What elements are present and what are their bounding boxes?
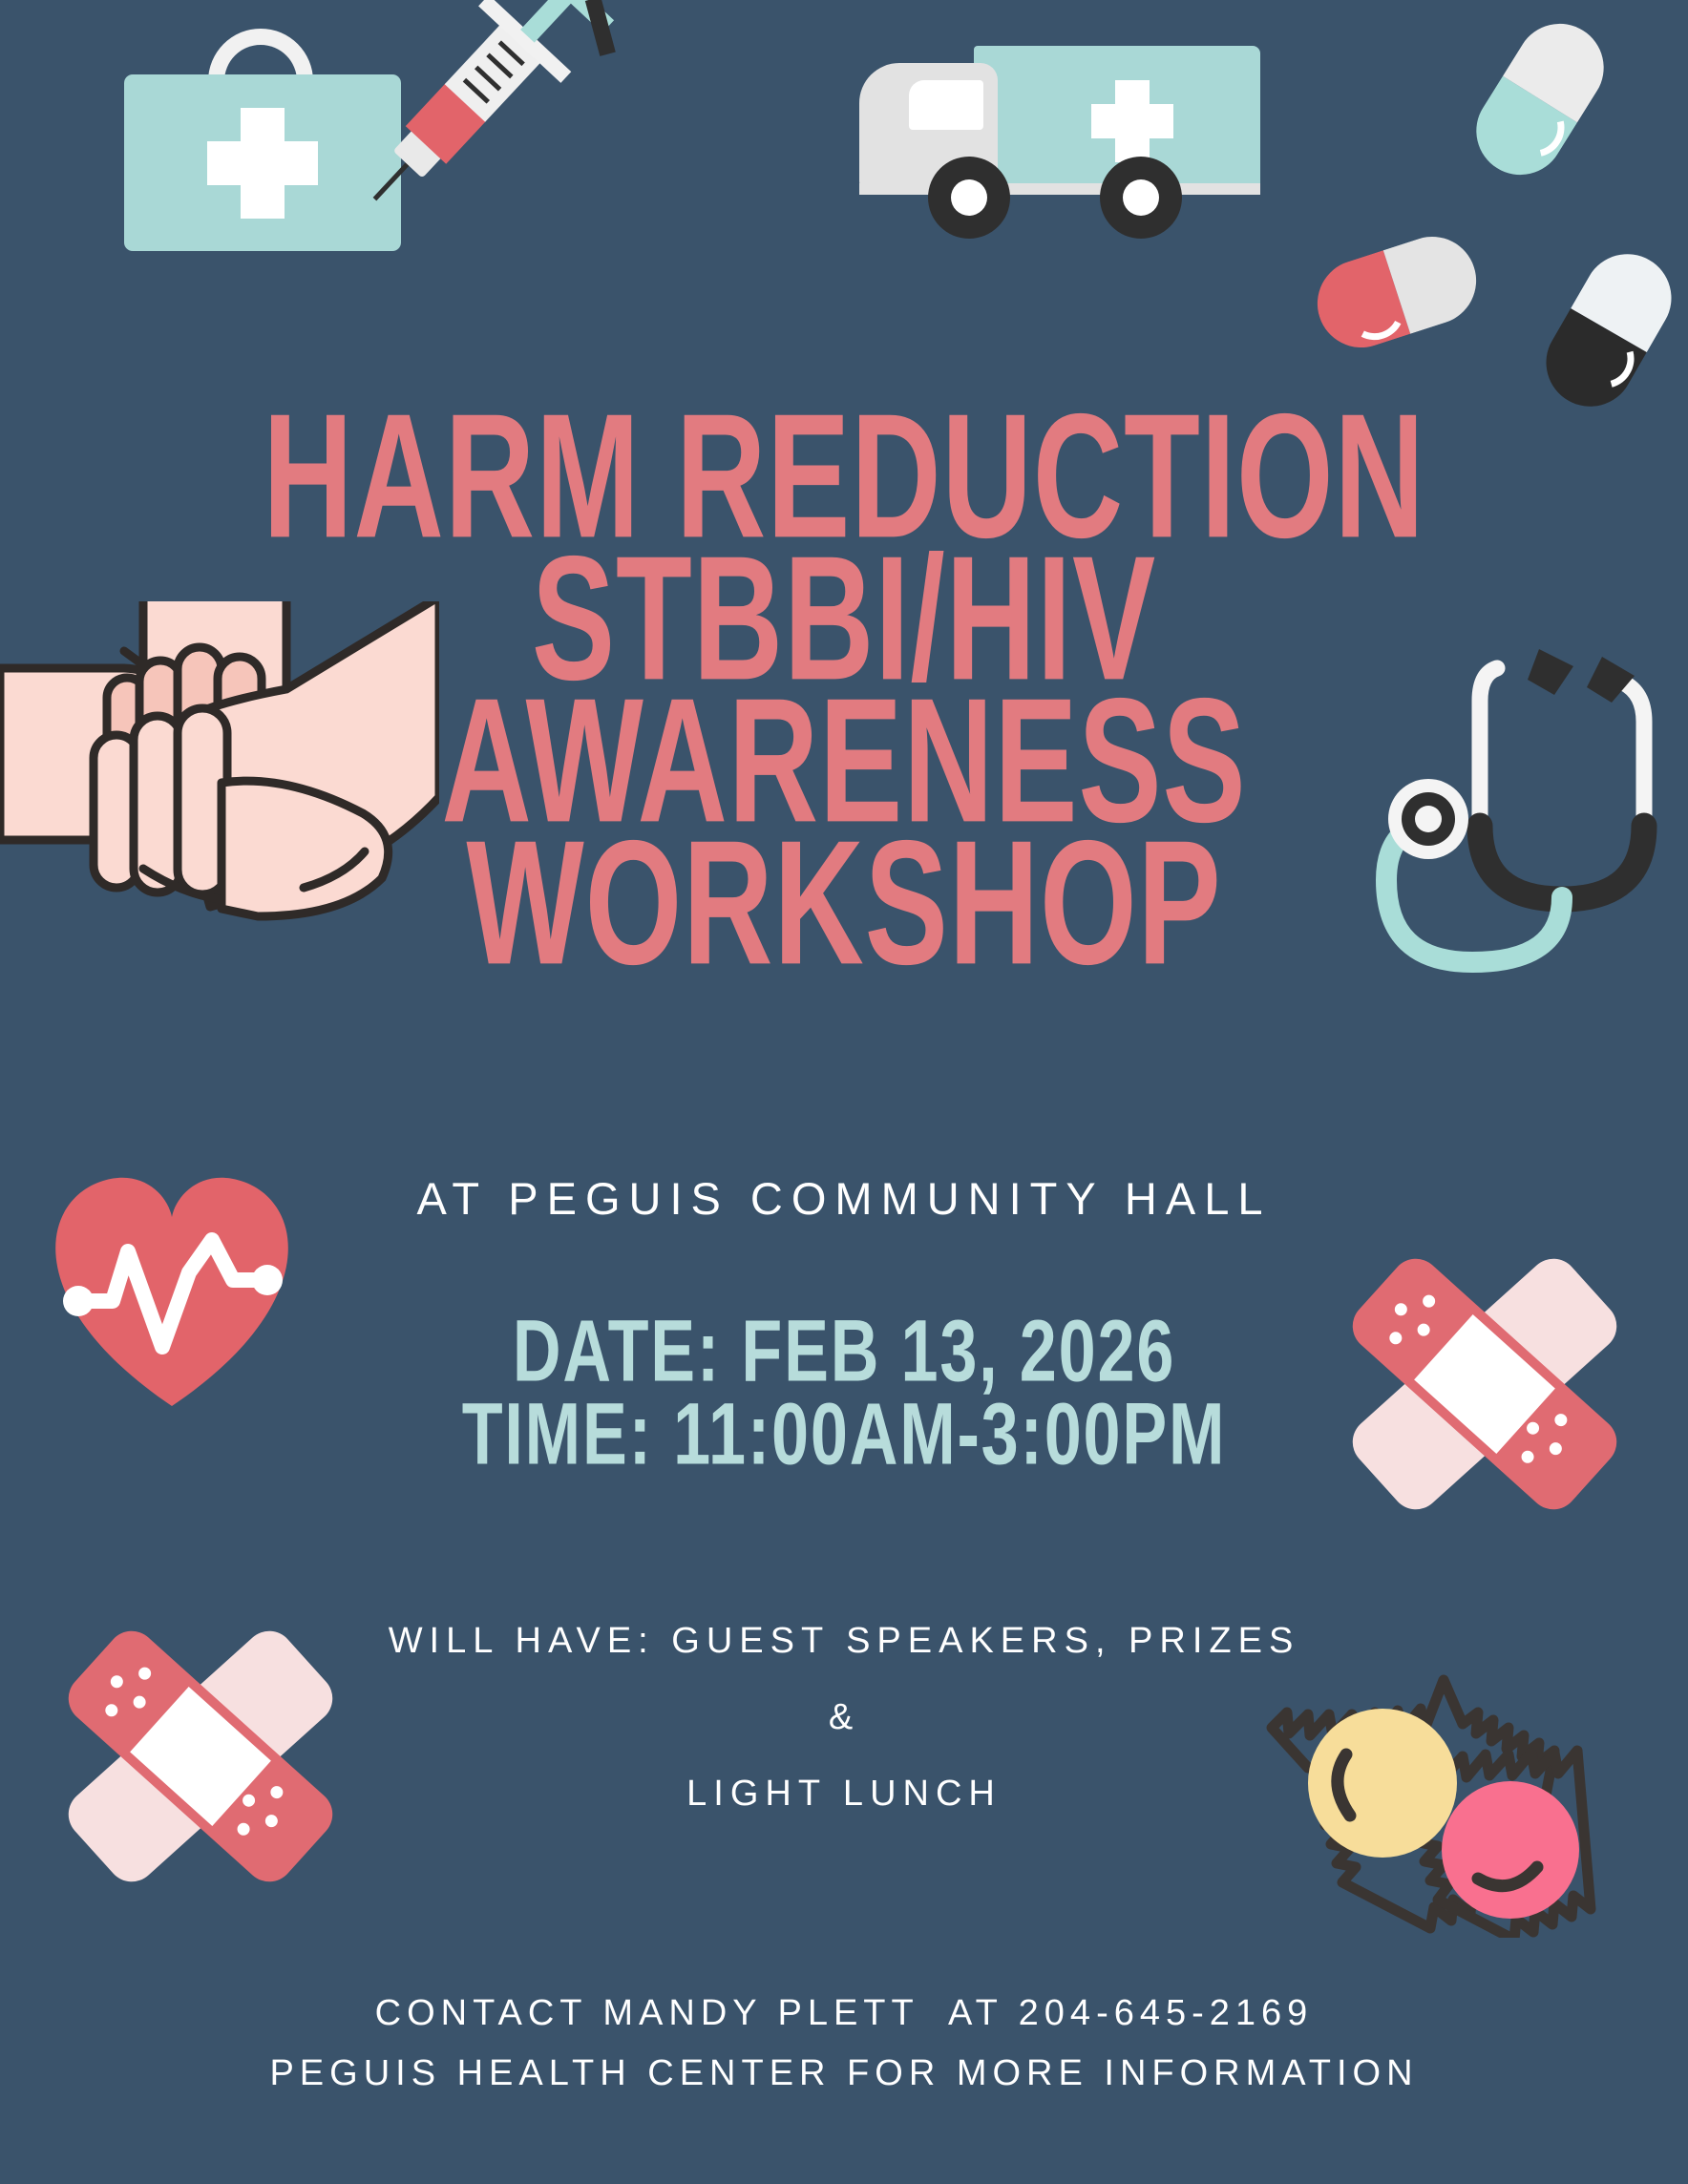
details-line-1: WILL HAVE: GUEST SPEAKERS, PRIZES [0,1604,1688,1680]
event-details-block: WILL HAVE: GUEST SPEAKERS, PRIZES & LIGH… [0,1604,1688,1832]
poster-title: HARM REDUCTION STBBI/HIV AWARENESS WORKS… [0,406,1688,975]
details-line-2: & [0,1680,1688,1756]
title-line-4: WORKSHOP [118,816,1570,990]
details-line-3: LIGHT LUNCH [0,1756,1688,1833]
poster-canvas: HARM REDUCTION STBBI/HIV AWARENESS WORKS… [0,0,1688,2184]
time-line: TIME: 11:00AM-3:00PM [84,1385,1603,1483]
contact-line-1: CONTACT MANDY PLETT AT 204-645-2169 [0,1984,1688,2044]
venue-line: AT PEGUIS COMMUNITY HALL [0,1172,1688,1225]
contact-block: CONTACT MANDY PLETT AT 204-645-2169 PEGU… [0,1984,1688,2103]
date-time-block: DATE: FEB 13, 2026 TIME: 11:00AM-3:00PM [0,1310,1688,1477]
contact-line-2: PEGUIS HEALTH CENTER FOR MORE INFORMATIO… [0,2044,1688,2104]
poster-text-layer: HARM REDUCTION STBBI/HIV AWARENESS WORKS… [0,0,1688,2184]
